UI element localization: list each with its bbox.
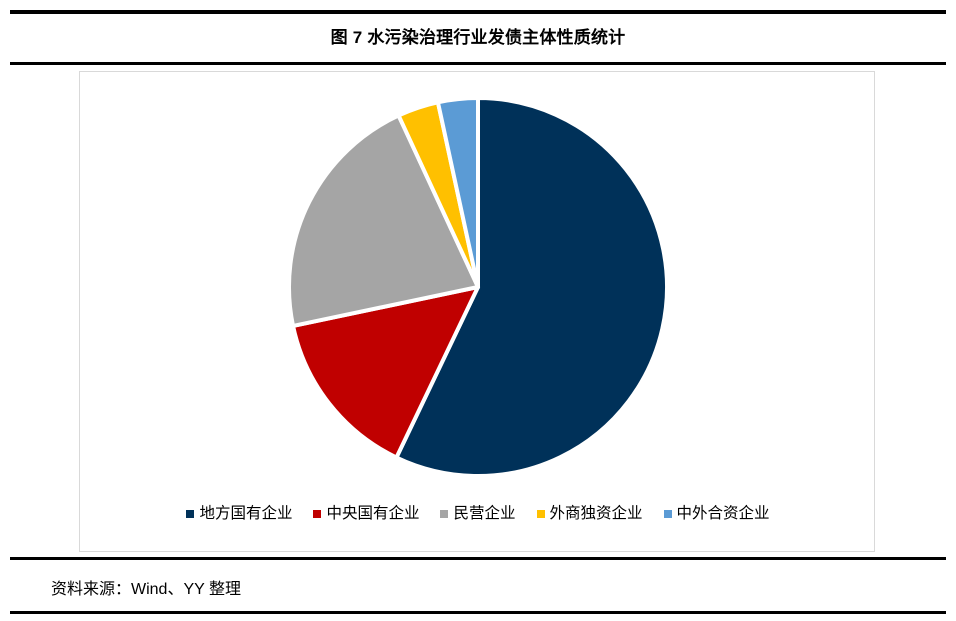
legend-item[interactable]: 地方国有企业 <box>186 504 292 524</box>
legend-item[interactable]: 民营企业 <box>440 504 515 524</box>
pie-chart <box>80 72 876 553</box>
legend-swatch-icon <box>664 510 672 518</box>
source-note: 资料来源：Wind、YY 整理 <box>51 578 241 602</box>
legend-item[interactable]: 中外合资企业 <box>664 504 770 524</box>
legend-label: 地方国有企业 <box>199 504 292 524</box>
legend-swatch-icon <box>186 510 194 518</box>
figure-page: 图 7 水污染治理行业发债主体性质统计 地方国有企业中央国有企业民营企业外商独资… <box>0 0 956 621</box>
figure-title: 图 7 水污染治理行业发债主体性质统计 <box>10 24 946 52</box>
chart-frame: 地方国有企业中央国有企业民营企业外商独资企业中外合资企业 <box>79 71 875 552</box>
top-divider-rule <box>10 10 946 14</box>
legend-item[interactable]: 中央国有企业 <box>313 504 419 524</box>
bottom-divider-rule <box>10 611 946 614</box>
legend-swatch-icon <box>537 510 545 518</box>
title-divider-rule <box>10 62 946 65</box>
pie-chart-svg <box>80 72 876 553</box>
chart-legend: 地方国有企业中央国有企业民营企业外商独资企业中外合资企业 <box>80 504 876 524</box>
legend-label: 中央国有企业 <box>326 504 419 524</box>
legend-label: 外商独资企业 <box>550 504 643 524</box>
source-divider-rule <box>10 557 946 560</box>
legend-label: 民营企业 <box>453 504 515 524</box>
legend-label: 中外合资企业 <box>677 504 770 524</box>
legend-swatch-icon <box>440 510 448 518</box>
legend-item[interactable]: 外商独资企业 <box>537 504 643 524</box>
legend-swatch-icon <box>313 510 321 518</box>
